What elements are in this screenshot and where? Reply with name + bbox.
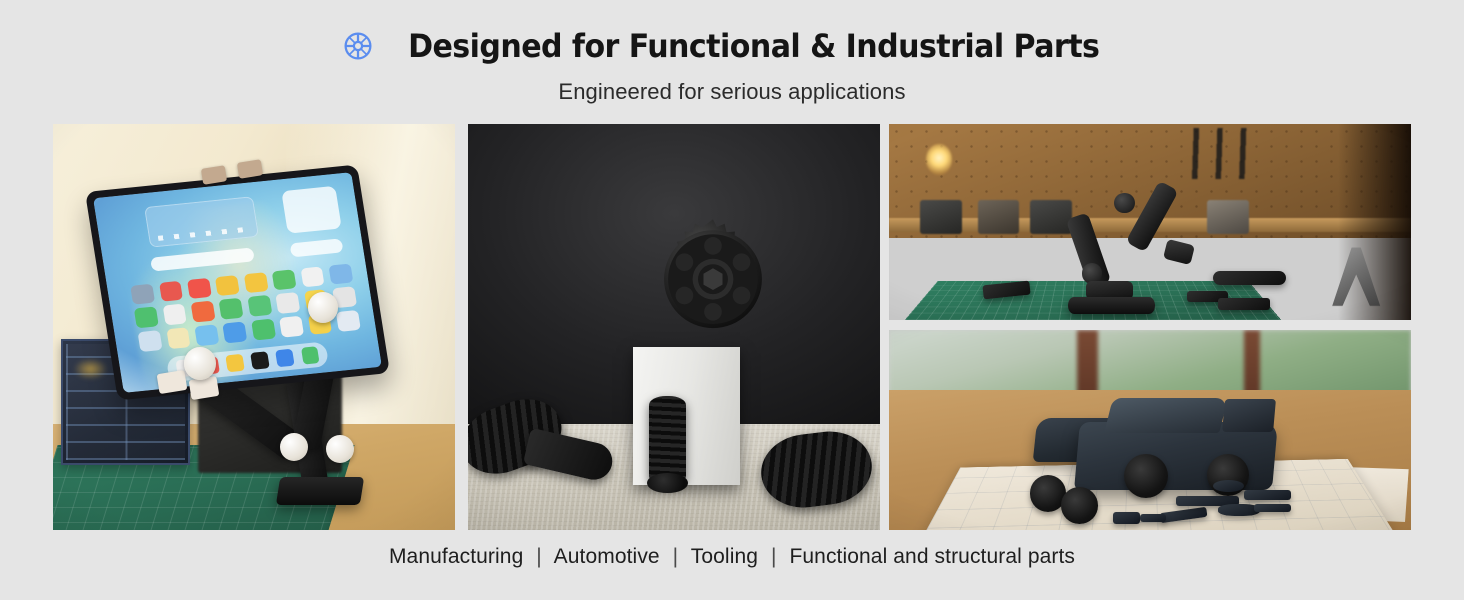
- app-icon: [191, 301, 216, 323]
- arm-gripper-head: [1163, 239, 1195, 265]
- app-icon: [219, 298, 244, 320]
- printed-car-part: [1254, 504, 1291, 512]
- tablet-device: [85, 164, 390, 400]
- arm-joint: [1114, 193, 1134, 213]
- caption-item-functional-parts: Functional and structural parts: [789, 545, 1075, 568]
- dock-icon: [251, 351, 270, 369]
- gears-scene: [468, 124, 880, 530]
- stand-base: [276, 477, 365, 505]
- app-icon: [280, 315, 305, 337]
- tablet-screen: [93, 172, 382, 393]
- caption-item-automotive: Automotive: [554, 545, 660, 568]
- app-icon: [336, 310, 361, 332]
- workshop-scene: [889, 124, 1411, 320]
- app-icon: [300, 266, 325, 288]
- title-row: Designed for Functional & Industrial Par…: [0, 24, 1464, 68]
- printed-wheel: [1061, 487, 1098, 524]
- gallery-image-gears-and-screws: [468, 124, 880, 530]
- arm-base: [1068, 297, 1156, 314]
- stand-top-clamp: [237, 159, 263, 179]
- app-icon: [166, 327, 191, 349]
- page-subtitle: Engineered for serious applications: [0, 80, 1464, 104]
- app-icon: [272, 269, 297, 291]
- app-icon: [248, 295, 273, 317]
- app-icon: [244, 272, 269, 294]
- app-icon: [329, 263, 354, 285]
- app-icon: [223, 321, 248, 343]
- app-icon: [251, 318, 276, 340]
- page-title: Designed for Functional & Industrial Par…: [408, 30, 1099, 62]
- tablet-stand-scene: [53, 124, 455, 530]
- caption-item-tooling: Tooling: [691, 545, 758, 568]
- printed-gear: [645, 201, 781, 337]
- app-icon: [195, 324, 220, 346]
- caption-separator: |: [529, 545, 549, 568]
- pencil-cup: [1207, 200, 1249, 233]
- printed-robotic-arm: [1046, 161, 1203, 314]
- printed-wheel: [1124, 454, 1168, 498]
- printed-car-part: [1244, 490, 1291, 500]
- weather-widget: [281, 185, 342, 233]
- dock-icon: [276, 349, 295, 367]
- app-icon: [163, 304, 188, 326]
- app-icon: [159, 280, 184, 302]
- model-build-scene: [889, 330, 1411, 530]
- dock-icon: [226, 354, 245, 372]
- banner-header: Designed for Functional & Industrial Par…: [0, 24, 1464, 104]
- tool-jar: [978, 200, 1020, 233]
- app-icon: [134, 306, 159, 328]
- wheel-gear-icon: [343, 31, 373, 61]
- app-icon: [138, 330, 163, 352]
- image-gallery: [53, 124, 1411, 530]
- printed-car-part: [1113, 512, 1139, 524]
- adjustment-knob: [184, 347, 216, 379]
- app-icon: [276, 292, 301, 314]
- application-caption: Manufacturing | Automotive | Tooling | F…: [0, 545, 1464, 569]
- printed-part: [1218, 298, 1270, 310]
- caption-item-manufacturing: Manufacturing: [389, 545, 523, 568]
- caption-separator: |: [764, 545, 784, 568]
- app-icon: [216, 274, 241, 296]
- gallery-image-robotic-arm: [889, 124, 1411, 320]
- app-icon: [131, 283, 156, 305]
- printed-car-part: [1213, 480, 1244, 492]
- printed-car-part: [1218, 504, 1260, 516]
- tool-jar: [920, 200, 962, 233]
- functional-parts-banner: Designed for Functional & Industrial Par…: [0, 0, 1464, 600]
- gallery-image-tablet-stand: [53, 124, 455, 530]
- dock-icon: [301, 346, 320, 364]
- printed-screw-upright: [649, 396, 686, 485]
- caption-separator: |: [666, 545, 686, 568]
- printed-part: [1213, 271, 1286, 285]
- app-icon: [187, 277, 212, 299]
- edison-bulb: [926, 144, 952, 175]
- gallery-image-delorean-models: [889, 330, 1411, 530]
- adjustment-knob: [280, 433, 308, 461]
- stand-top-clamp: [201, 165, 227, 185]
- stand-bottom-clamp: [156, 370, 187, 394]
- printed-car-part: [1140, 514, 1166, 522]
